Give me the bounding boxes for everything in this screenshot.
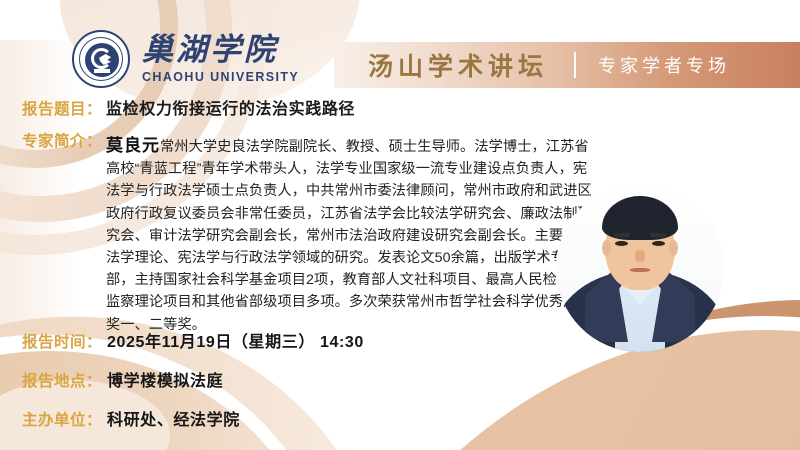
university-name-en: CHAOHU UNIVERSITY — [142, 71, 299, 84]
portrait-ear-left — [602, 240, 611, 256]
organizer-value: 科研处、经法学院 — [107, 406, 240, 430]
seal-inner-disc — [85, 43, 119, 77]
portrait-eyebrow-right — [650, 233, 666, 237]
university-name-cn: 巢湖学院 — [142, 35, 299, 66]
university-logo: 巢湖学院 CHAOHU UNIVERSITY — [72, 30, 299, 88]
speaker-portrait — [556, 184, 724, 352]
event-details: 报告时间： 2025年11月19日（星期三） 14:30 报告地点： 博学楼模拟… — [22, 328, 542, 445]
seal-base-bar — [94, 69, 110, 73]
organizer-row: 主办单位： 科研处、经法学院 — [22, 406, 542, 432]
forum-title: 汤山学术讲坛 — [368, 47, 548, 83]
time-value: 2025年11月19日（星期三） 14:30 — [107, 328, 364, 352]
speaker-name: 莫良元 — [106, 136, 160, 155]
speaker-bio-block: 莫良元常州大学史良法学院副院长、教授、硕士生导师。法学博士，江苏省高校“青蓝工程… — [106, 131, 594, 336]
portrait-nose — [635, 250, 645, 262]
topic-label: 报告题目： — [22, 99, 102, 121]
poster-header: 巢湖学院 CHAOHU UNIVERSITY 汤山学术讲坛 专家学者专场 — [0, 0, 800, 96]
topic-value: 监检权力衔接运行的法治实践路径 — [106, 99, 355, 121]
place-value: 博学楼模拟法庭 — [107, 367, 223, 391]
forum-banner: 汤山学术讲坛 专家学者专场 — [334, 42, 800, 88]
time-label: 报告时间： — [22, 332, 102, 354]
speaker-label: 专家简介： — [22, 131, 102, 153]
speaker-bio-text: 常州大学史良法学院副院长、教授、硕士生导师。法学博士，江苏省高校“青蓝工程”青年… — [106, 139, 592, 333]
portrait-eye-right — [652, 241, 665, 246]
portrait-mouth — [630, 268, 650, 272]
organizer-label: 主办单位： — [22, 410, 102, 432]
portrait-eyebrow-left — [614, 233, 630, 237]
place-label: 报告地点： — [22, 371, 102, 393]
topic-row: 报告题目： 监检权力衔接运行的法治实践路径 — [0, 99, 800, 121]
forum-subtitle: 专家学者专场 — [598, 52, 730, 78]
portrait-eye-left — [615, 241, 628, 246]
banner-divider — [574, 52, 576, 78]
university-name-block: 巢湖学院 CHAOHU UNIVERSITY — [142, 35, 299, 84]
chaohu-university-seal-icon — [72, 30, 130, 88]
portrait-ear-right — [669, 240, 678, 256]
place-row: 报告地点： 博学楼模拟法庭 — [22, 367, 542, 393]
lecture-poster: 巢湖学院 CHAOHU UNIVERSITY 汤山学术讲坛 专家学者专场 报告题… — [0, 0, 800, 450]
time-row: 报告时间： 2025年11月19日（星期三） 14:30 — [22, 328, 542, 354]
